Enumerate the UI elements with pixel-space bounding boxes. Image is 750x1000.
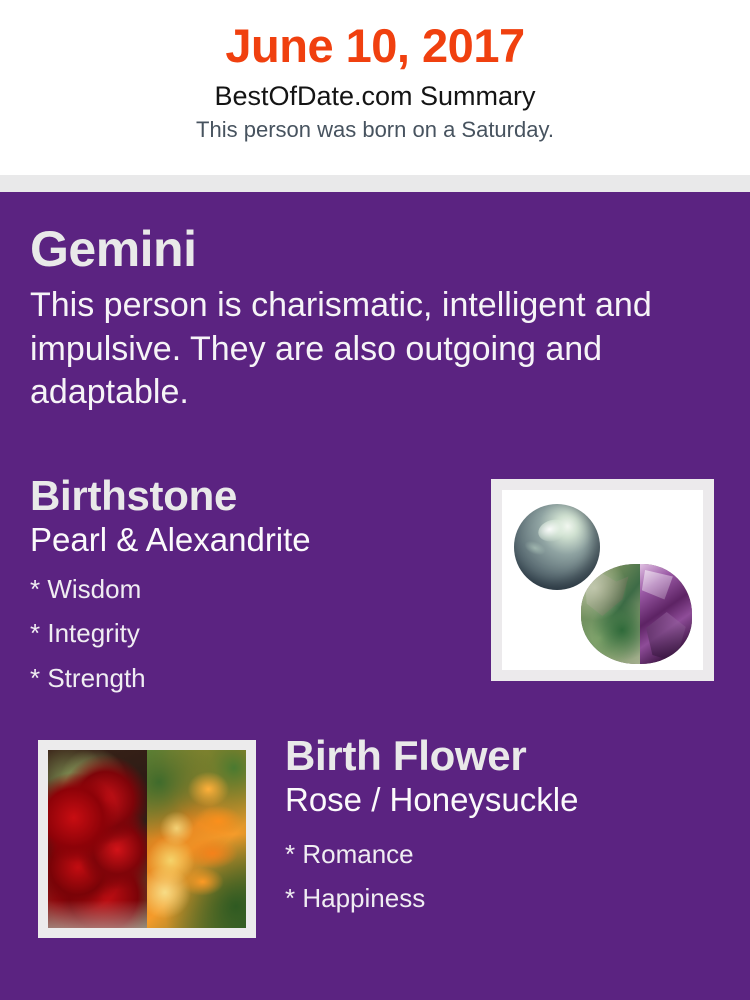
birthstone-image-frame — [491, 479, 714, 681]
list-item: * Happiness — [285, 876, 725, 921]
list-item: * Romance — [285, 832, 725, 877]
birth-flower-photo — [48, 750, 246, 928]
alexandrite-icon — [581, 564, 692, 664]
birth-flower-names: Rose / Honeysuckle — [285, 777, 725, 818]
weekday-note: This person was born on a Saturday. — [0, 110, 750, 141]
birthstone-photo — [502, 490, 703, 670]
zodiac-section: Gemini This person is charismatic, intel… — [30, 224, 710, 415]
birthstone-section: Birthstone Pearl & Alexandrite * Wisdom … — [30, 475, 480, 701]
summary-page: June 10, 2017 BestOfDate.com Summary Thi… — [0, 0, 750, 1000]
birth-flower-image-frame — [38, 740, 256, 938]
summary-panel: Gemini This person is charismatic, intel… — [0, 192, 750, 1000]
birthstone-names: Pearl & Alexandrite — [30, 517, 480, 558]
alexandrite-raw-mineral — [581, 564, 643, 664]
zodiac-sign-name: Gemini — [30, 224, 710, 274]
birthstone-title: Birthstone — [30, 475, 480, 517]
list-item: * Strength — [30, 656, 480, 701]
rose-photo-half — [48, 750, 147, 928]
list-item: * Integrity — [30, 611, 480, 656]
birth-flower-title: Birth Flower — [285, 735, 725, 777]
list-item: * Wisdom — [30, 567, 480, 612]
honeysuckle-photo-half — [147, 750, 246, 928]
birth-flower-trait-list: * Romance * Happiness — [285, 818, 725, 921]
header-divider — [0, 175, 750, 192]
page-title-date: June 10, 2017 — [0, 0, 750, 69]
alexandrite-faceted-gem — [640, 564, 692, 664]
birth-flower-section: Birth Flower Rose / Honeysuckle * Romanc… — [285, 735, 725, 921]
page-header: June 10, 2017 BestOfDate.com Summary Thi… — [0, 0, 750, 175]
birthstone-trait-list: * Wisdom * Integrity * Strength — [30, 558, 480, 701]
zodiac-description: This person is charismatic, intelligent … — [30, 274, 702, 415]
site-name: BestOfDate.com Summary — [0, 69, 750, 110]
